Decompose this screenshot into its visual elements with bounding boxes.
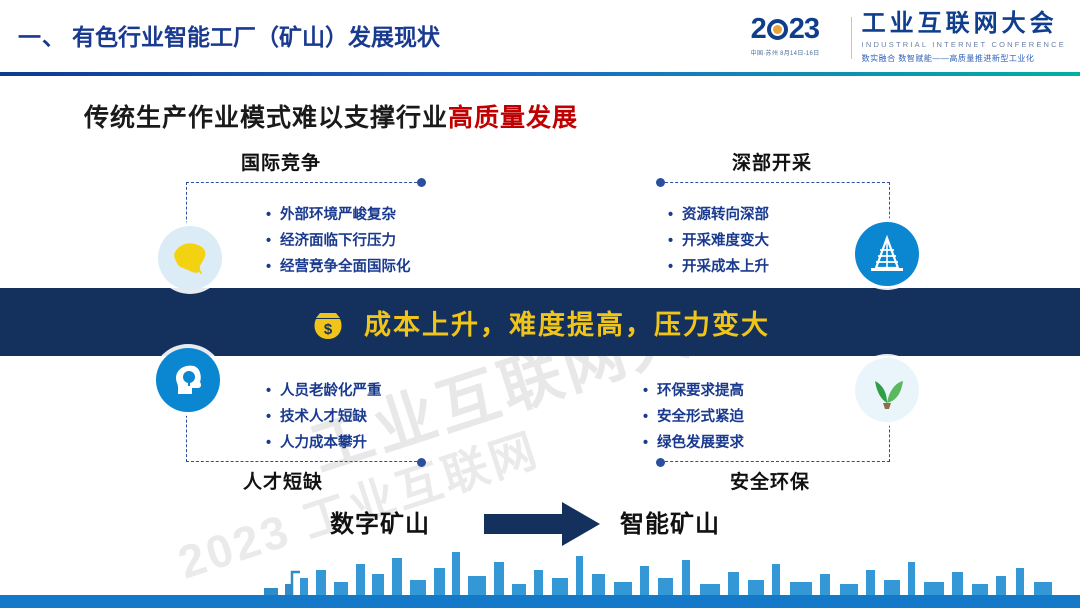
svg-text:$: $	[324, 321, 333, 338]
list-item: 人员老龄化严重	[266, 378, 382, 404]
connector-dot-tl	[417, 178, 426, 187]
center-band-content: $ 成本上升，难度提高，压力变大	[0, 288, 1080, 356]
logo-year-first: 2	[751, 13, 766, 45]
header-divider	[0, 72, 1080, 76]
connector-dot-bl	[417, 458, 426, 467]
list-item: 安全形式紧迫	[643, 404, 744, 430]
brain-head-icon	[156, 348, 220, 412]
main-heading-prefix: 传统生产作业模式难以支撑行业	[84, 104, 448, 132]
quadrant-title-international-competition: 国际竞争	[241, 148, 321, 175]
list-item: 经营竞争全面国际化	[266, 254, 411, 280]
list-item: 环保要求提高	[643, 378, 744, 404]
list-item: 绿色发展要求	[643, 430, 744, 456]
conference-logo: 223 中国·苏州 8月14日-16日 工业互联网大会 INDUSTRIAL I…	[749, 8, 1066, 68]
conference-name-cn: 工业互联网大会	[862, 10, 1066, 38]
slide-header: 一、 有色行业智能工厂（矿山）发展现状 223 中国·苏州 8月14日-16日 …	[0, 0, 1080, 76]
right-arrow-icon	[484, 502, 600, 546]
center-band: $ 成本上升，难度提高，压力变大	[0, 288, 1080, 356]
transition-to-label: 智能矿山	[620, 504, 720, 539]
conference-name-en: INDUSTRIAL INTERNET CONFERENCE	[862, 40, 1066, 49]
green-leaf-icon	[855, 358, 919, 422]
list-item: 人力成本攀升	[266, 430, 382, 456]
list-item: 技术人才短缺	[266, 404, 382, 430]
bullet-list-deep-mining: 资源转向深部 开采难度变大 开采成本上升	[668, 202, 769, 280]
mine-shaft-icon	[855, 222, 919, 286]
logo-year: 223	[751, 12, 819, 46]
section-number: 一、	[18, 18, 66, 52]
section-title-row: 一、 有色行业智能工厂（矿山）发展现状	[18, 18, 440, 52]
list-item: 开采成本上升	[668, 254, 769, 280]
connector-dot-br	[656, 458, 665, 467]
list-item: 外部环境严峻复杂	[266, 202, 411, 228]
list-item: 经济面临下行压力	[266, 228, 411, 254]
logo-divider	[851, 17, 852, 59]
page-title: 有色行业智能工厂（矿山）发展现状	[72, 18, 440, 52]
list-item: 开采难度变大	[668, 228, 769, 254]
quadrant-title-safety-environment: 安全环保	[730, 467, 810, 494]
slide: 一、 有色行业智能工厂（矿山）发展现状 223 中国·苏州 8月14日-16日 …	[0, 0, 1080, 608]
logo-year-block: 223 中国·苏州 8月14日-16日	[749, 10, 841, 66]
main-heading: 传统生产作业模式难以支撑行业高质量发展	[84, 98, 578, 134]
transition-from-label: 数字矿山	[330, 504, 430, 539]
bullet-list-safety-environment: 环保要求提高 安全形式紧迫 绿色发展要求	[643, 378, 744, 456]
center-band-text: 成本上升，难度提高，压力变大	[364, 303, 770, 342]
logo-year-rest: 23	[789, 13, 819, 45]
connector-dot-tr	[656, 178, 665, 187]
diagram: 工业互联网大会 2023 工业互联网 国际竞争 深部开采 人才短缺 安全环保 外…	[0, 140, 1080, 560]
money-bag-icon: $	[310, 303, 350, 341]
logo-year-ring-icon	[767, 19, 788, 40]
bullet-list-talent-shortage: 人员老龄化严重 技术人才短缺 人力成本攀升	[266, 378, 382, 456]
quadrant-title-deep-mining: 深部开采	[732, 148, 812, 175]
logo-year-sub: 中国·苏州 8月14日-16日	[751, 48, 820, 57]
bullet-list-international-competition: 外部环境严峻复杂 经济面临下行压力 经营竞争全面国际化	[266, 202, 411, 280]
china-map-icon	[158, 226, 222, 290]
main-heading-highlight: 高质量发展	[448, 104, 578, 132]
city-skyline-decoration	[0, 544, 1080, 608]
conference-tagline: 数实融合 数智赋能——高质量推进新型工业化	[862, 53, 1066, 64]
list-item: 资源转向深部	[668, 202, 769, 228]
quadrant-title-talent-shortage: 人才短缺	[243, 467, 323, 494]
logo-text-block: 工业互联网大会 INDUSTRIAL INTERNET CONFERENCE 数…	[862, 10, 1066, 66]
